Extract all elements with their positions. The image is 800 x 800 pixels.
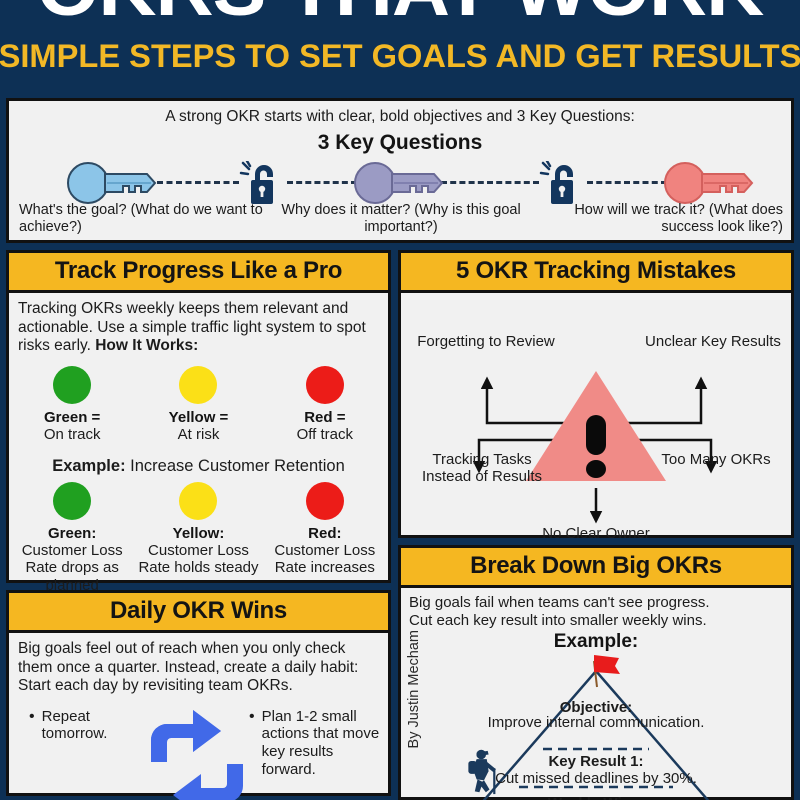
key-icon-1 xyxy=(67,162,159,204)
track-progress-intro: Tracking OKRs weekly keeps them relevant… xyxy=(9,293,388,356)
red-dot-icon xyxy=(306,482,344,520)
traffic-light-desc: At risk xyxy=(135,426,261,443)
bullet-dot-icon: • xyxy=(29,708,35,743)
mistake-label-2: Unclear Key Results xyxy=(643,333,783,350)
green-dot-icon xyxy=(53,482,91,520)
daily-wins-heading: Daily OKR Wins xyxy=(9,593,388,633)
traffic-light-desc: On track xyxy=(9,426,135,443)
break-down-heading: Break Down Big OKRs xyxy=(401,548,791,588)
mistake-label-1: Forgetting to Review xyxy=(411,333,561,350)
exclamation-dot-icon xyxy=(586,460,606,478)
example-light-row: Green: Customer Loss Rate drops as plann… xyxy=(9,482,388,594)
pyramid-kr1-label: Key Result 1: xyxy=(401,753,791,770)
dashed-connector-3 xyxy=(441,181,539,184)
traffic-light-desc: Off track xyxy=(262,426,388,443)
mistake-label-5: No Clear Owner xyxy=(401,525,791,542)
dashed-connector-4 xyxy=(587,181,667,184)
key-questions-heading: 3 Key Questions xyxy=(9,126,791,155)
yellow-dot-icon xyxy=(179,482,217,520)
mistake-label-3: Tracking Tasks Instead of Results xyxy=(407,451,557,486)
panel-break-down: Break Down Big OKRs Big goals fail when … xyxy=(398,545,794,800)
example-light-red: Red: Customer Loss Rate increases xyxy=(262,482,388,594)
daily-wins-bullets: •Repeat tomorrow. •Plan 1-2 small action… xyxy=(9,708,388,800)
pyramid-diagram: Objective: Improve internal communicatio… xyxy=(401,653,791,800)
traffic-light-name: Green = xyxy=(9,409,135,426)
break-down-intro-line2: Cut each key result into smaller weekly … xyxy=(409,612,783,630)
panel-okr-mistakes: 5 OKR Tracking Mistakes Forgetting to Re… xyxy=(398,250,794,538)
key-icon-3 xyxy=(664,162,756,204)
daily-bullet-right-text: Plan 1-2 small actions that move key res… xyxy=(262,708,389,779)
daily-bullet-left: •Repeat tomorrow. xyxy=(29,708,149,743)
daily-bullet-right: •Plan 1-2 small actions that move key re… xyxy=(249,708,389,779)
example-light-green: Green: Customer Loss Rate drops as plann… xyxy=(9,482,135,594)
daily-wins-intro-line2: Start each day by revisiting team OKRs. xyxy=(18,677,379,696)
example-light-desc: Customer Loss Rate increases xyxy=(262,542,388,577)
red-dot-icon xyxy=(306,366,344,404)
yellow-dot-icon xyxy=(179,366,217,404)
example-light-desc: Customer Loss Rate holds steady xyxy=(135,542,261,577)
key-lock-sequence xyxy=(9,159,791,203)
example-label: Example: xyxy=(52,457,125,475)
page-title: OKRS THAT WORK xyxy=(0,0,800,28)
page-subtitle: SIMPLE STEPS TO SET GOALS AND GET RESULT… xyxy=(0,40,800,72)
break-down-intro-line1: Big goals fail when teams can't see prog… xyxy=(409,594,783,612)
infographic-header: OKRS THAT WORK SIMPLE STEPS TO SET GOALS… xyxy=(0,0,800,92)
mistake-label-4: Too Many OKRs xyxy=(651,451,781,468)
track-progress-heading: Track Progress Like a Pro xyxy=(9,253,388,293)
key-questions-intro: A strong OKR starts with clear, bold obj… xyxy=(9,101,791,126)
panel-key-questions: A strong OKR starts with clear, bold obj… xyxy=(6,98,794,243)
key-icon-2 xyxy=(354,162,446,204)
panel-track-progress: Track Progress Like a Pro Tracking OKRs … xyxy=(6,250,391,583)
daily-bullet-left-text: Repeat tomorrow. xyxy=(42,708,149,743)
example-text: Increase Customer Retention xyxy=(126,457,345,475)
exclamation-bar-icon xyxy=(586,415,606,455)
unlock-icon-2 xyxy=(539,161,587,205)
traffic-light-name: Yellow = xyxy=(135,409,261,426)
track-progress-intro-bold: How It Works: xyxy=(95,337,198,354)
track-progress-example-line: Example: Increase Customer Retention xyxy=(9,457,388,476)
traffic-light-red: Red = Off track xyxy=(262,366,388,443)
mistakes-diagram: Forgetting to Review Unclear Key Results… xyxy=(401,293,791,538)
traffic-light-yellow: Yellow = At risk xyxy=(135,366,261,443)
traffic-light-name: Red = xyxy=(262,409,388,426)
example-light-name: Green: xyxy=(9,525,135,542)
panel-daily-wins: Daily OKR Wins Big goals feel out of rea… xyxy=(6,590,391,796)
pyramid-weekly-label: Weekly Wins: xyxy=(401,795,791,800)
key-question-label-1: What's the goal? (What do we want to ach… xyxy=(9,202,274,235)
unlock-icon-1 xyxy=(239,161,287,205)
daily-wins-intro: Big goals feel out of reach when you onl… xyxy=(9,633,388,696)
example-light-name: Red: xyxy=(262,525,388,542)
traffic-light-row: Green = On track Yellow = At risk Red = … xyxy=(9,366,388,443)
traffic-light-green: Green = On track xyxy=(9,366,135,443)
recycle-arrows-icon xyxy=(137,704,257,800)
daily-wins-intro-line1: Big goals feel out of reach when you onl… xyxy=(18,640,379,677)
key-question-label-2: Why does it matter? (Why is this goal im… xyxy=(274,202,529,235)
bullet-dot-icon: • xyxy=(249,708,255,779)
key-question-label-3: How will we track it? (What does success… xyxy=(528,202,791,235)
example-light-name: Yellow: xyxy=(135,525,261,542)
pyramid-objective-text: Improve internal communication. xyxy=(401,715,791,732)
mistakes-heading: 5 OKR Tracking Mistakes xyxy=(401,253,791,293)
example-light-yellow: Yellow: Customer Loss Rate holds steady xyxy=(135,482,261,594)
break-down-intro: Big goals fail when teams can't see prog… xyxy=(401,588,791,630)
green-dot-icon xyxy=(53,366,91,404)
pyramid-kr1-text: Cut missed deadlines by 30%. xyxy=(401,770,791,787)
break-down-example-label: Example: xyxy=(401,631,791,653)
dashed-connector-2 xyxy=(287,181,357,184)
key-question-labels: What's the goal? (What do we want to ach… xyxy=(9,202,791,235)
dashed-connector-1 xyxy=(157,181,239,184)
example-light-desc: Customer Loss Rate drops as planned xyxy=(9,542,135,594)
